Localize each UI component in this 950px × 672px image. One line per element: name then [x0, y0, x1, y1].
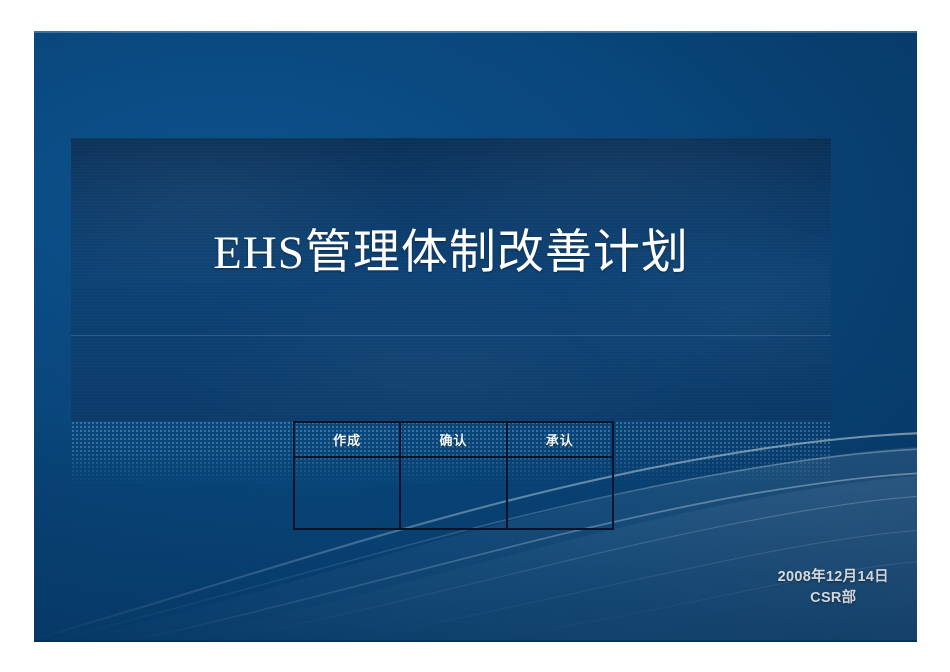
title-panel: EHS管理体制改善计划	[71, 138, 831, 421]
footer-department: CSR部	[778, 588, 889, 609]
footer-date: 2008年12月14日	[778, 567, 889, 588]
footer-block: 2008年12月14日 CSR部	[778, 567, 889, 608]
approval-signature-table: 作成 确认 承认	[293, 421, 614, 530]
table-row	[294, 457, 613, 529]
approval-cell-0[interactable]	[294, 457, 400, 529]
table-header-row: 作成 确认 承认	[294, 422, 613, 457]
slide-bottom-border	[34, 640, 917, 642]
approval-cell-2[interactable]	[507, 457, 613, 529]
page-title: EHS管理体制改善计划	[71, 226, 831, 280]
panel-divider-line	[71, 335, 831, 336]
table-header-cell-1: 确认	[400, 422, 506, 457]
table-header-cell-2: 承认	[507, 422, 613, 457]
approval-cell-1[interactable]	[400, 457, 506, 529]
presentation-slide: EHS管理体制改善计划 作成 确认 承认 2008年12月14日 CSR部	[34, 31, 917, 642]
table-header-cell-0: 作成	[294, 422, 400, 457]
slide-top-border	[34, 31, 917, 33]
